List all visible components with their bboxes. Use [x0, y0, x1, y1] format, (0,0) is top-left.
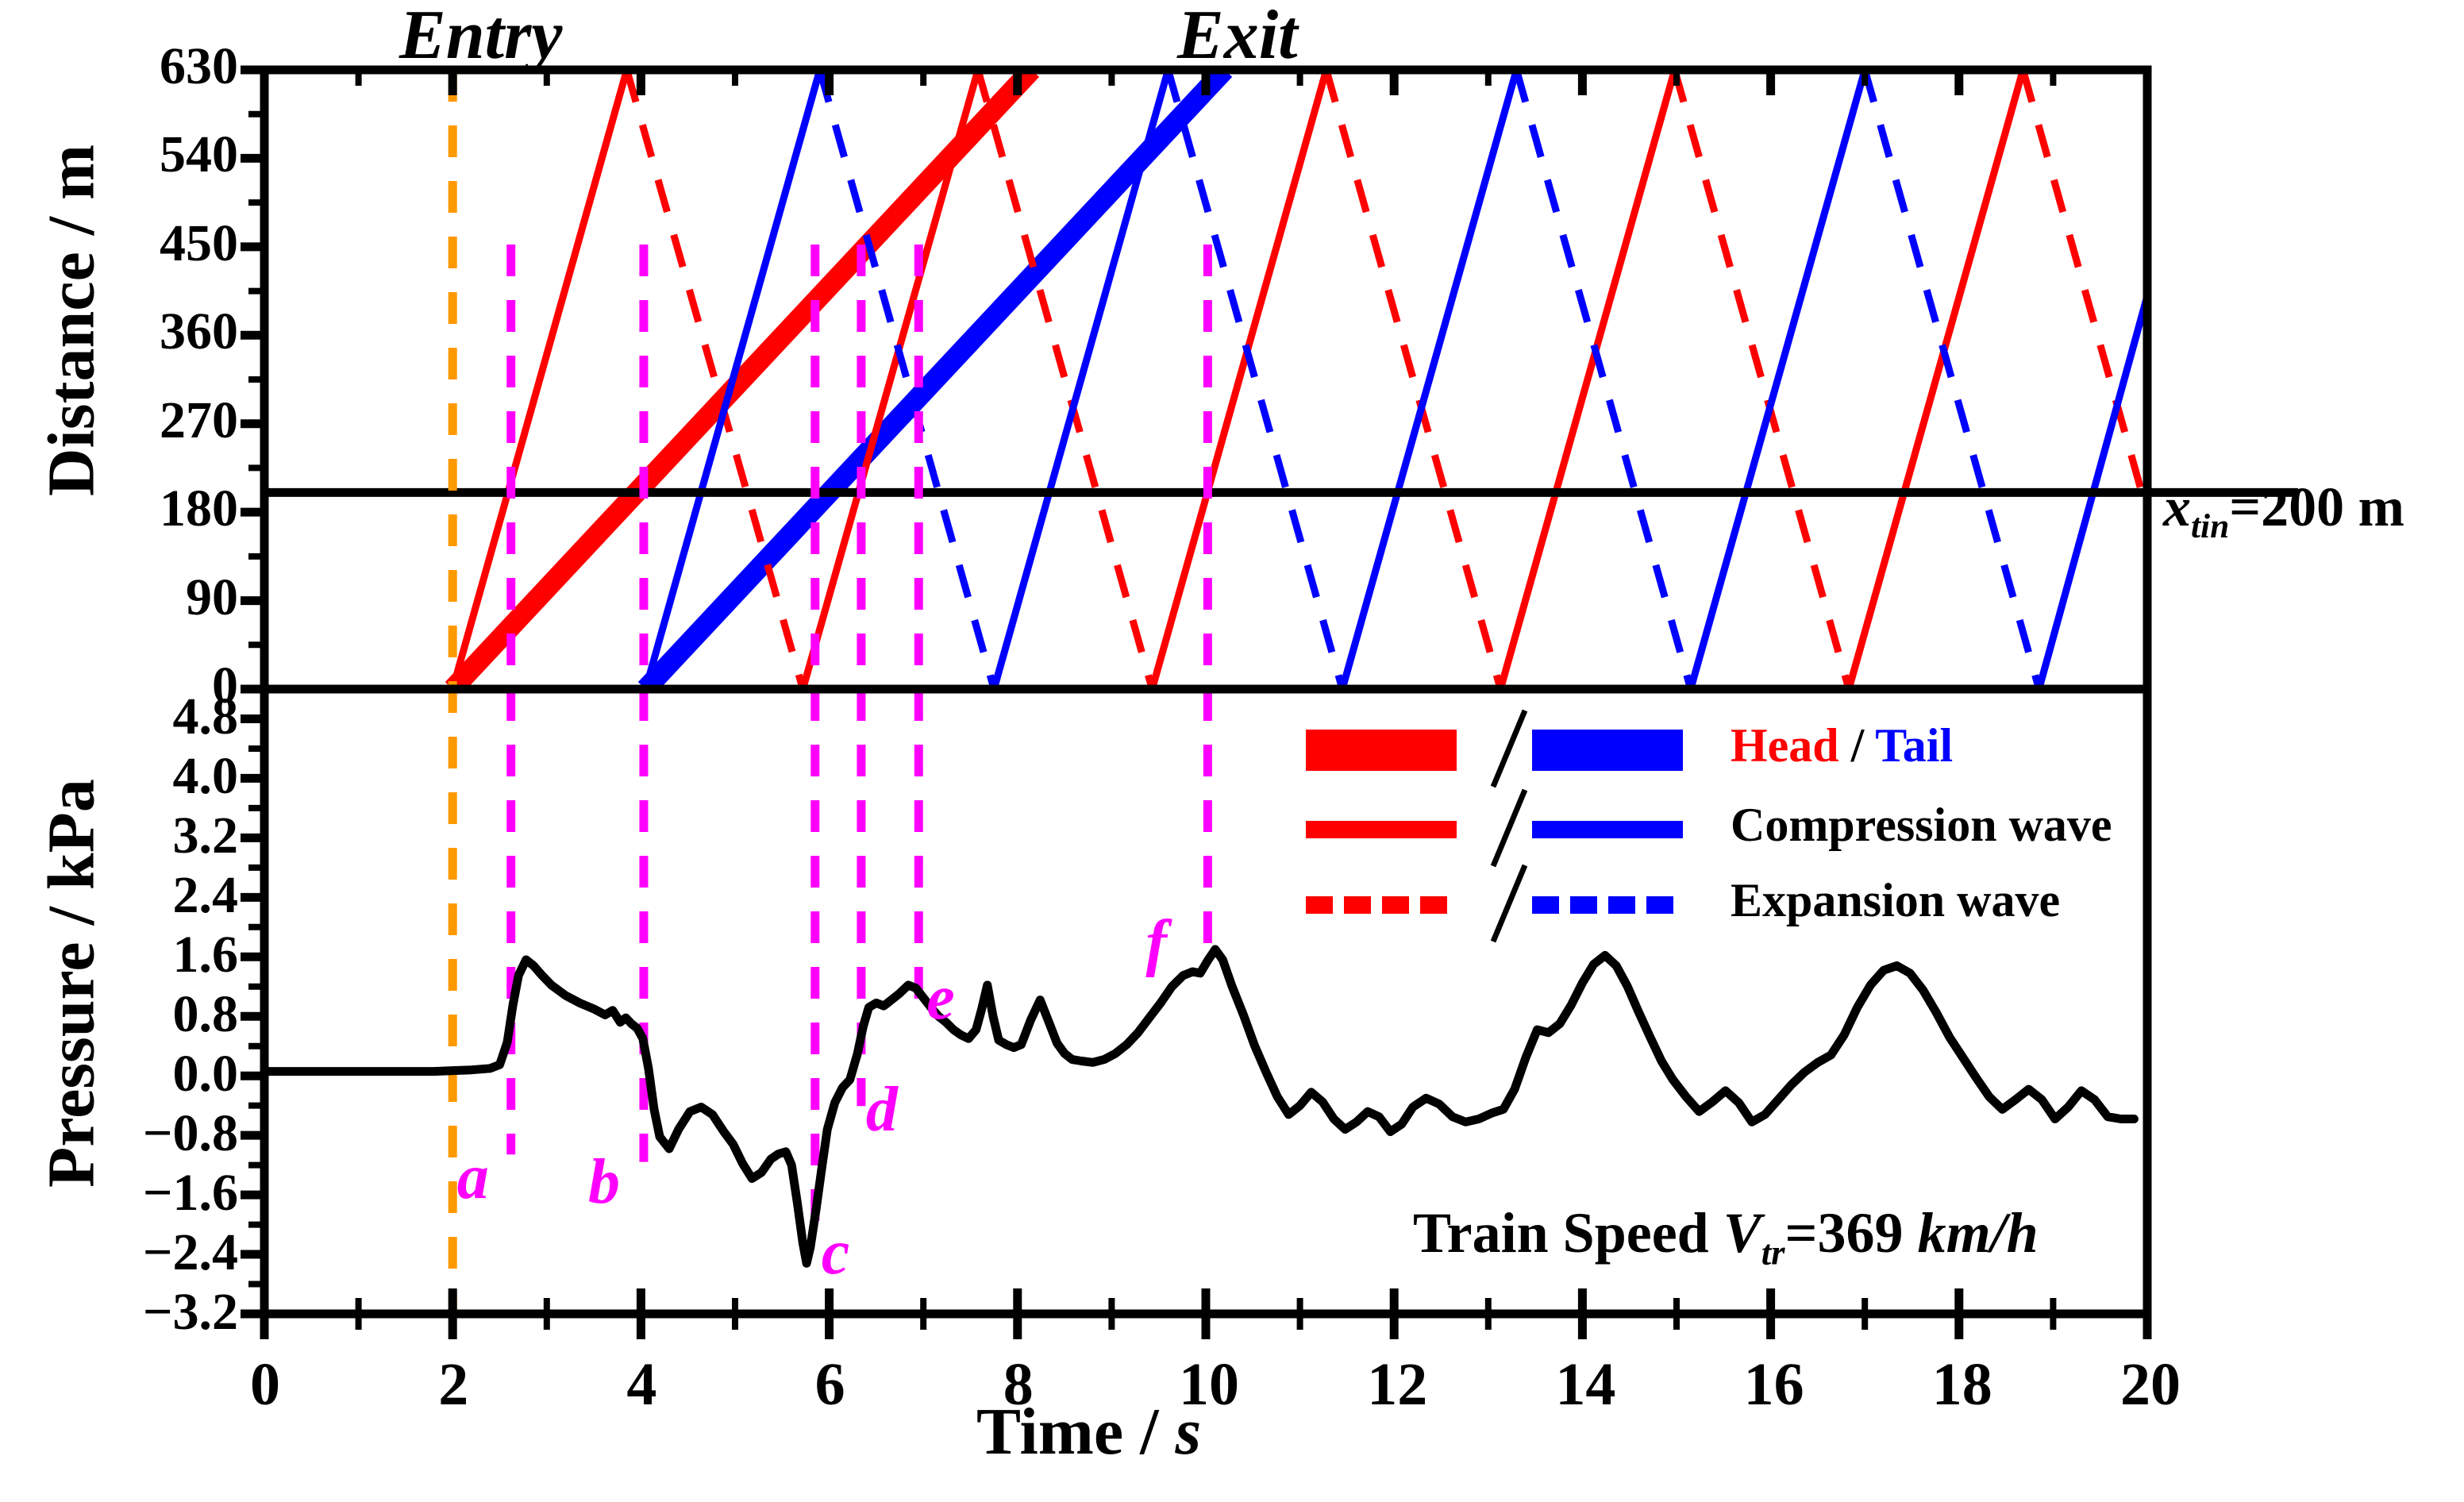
y-top-tick-label-450: 450	[71, 214, 238, 274]
x-tick-label-0: 0	[237, 1350, 293, 1419]
legend-label-0: Head / Tail	[1731, 718, 1953, 773]
legend-swatch-tail-2-2	[1608, 896, 1635, 914]
wave-line-16	[1342, 70, 1516, 689]
x-tick-label-6: 6	[803, 1350, 858, 1419]
x-tick-label-8: 8	[991, 1350, 1046, 1419]
train-speed-annotation: Train Speed Vtr=369 km/h	[1413, 1200, 2039, 1273]
y-bottom-tick-label-3: −0.8	[56, 1103, 238, 1164]
speed-subscript: tr	[1761, 1232, 1785, 1272]
xtin-subscript: tin	[2191, 507, 2229, 545]
wave-line-3	[627, 70, 803, 689]
legend-separator-0	[1493, 711, 1525, 787]
marker-label-c: c	[822, 1217, 850, 1289]
wave-line-15	[1168, 70, 1342, 689]
xtin-annotation: xtin=200 m	[2163, 476, 2404, 546]
legend-label-part-0-0: Head	[1731, 719, 1839, 772]
legend-swatch-tail-2-0	[1532, 896, 1559, 914]
wave-line-11	[2023, 70, 2147, 512]
y-bottom-tick-label-4: 0.0	[56, 1044, 238, 1104]
y-top-tick-label-90: 90	[71, 568, 238, 628]
speed-value: =369	[1785, 1201, 1918, 1265]
x-tick-label-14: 14	[1555, 1350, 1611, 1419]
y-top-tick-label-540: 540	[71, 125, 238, 185]
y-top-tick-label-180: 180	[71, 479, 238, 539]
legend-swatch-head-2-2	[1382, 896, 1409, 914]
legend-label-part-0-2: Tail	[1875, 719, 1953, 772]
xtin-symbol: x	[2163, 477, 2191, 538]
wave-pressure-figure	[0, 0, 2464, 1498]
x-tick-label-10: 10	[1179, 1350, 1234, 1419]
legend-swatch-head-2-0	[1306, 896, 1333, 914]
speed-symbol: V	[1723, 1201, 1761, 1265]
legend-label-part-0-1: /	[1839, 719, 1876, 772]
y-bottom-tick-label-1: −2.4	[56, 1223, 238, 1283]
y-bottom-tick-label-10: 4.8	[56, 687, 238, 747]
y-bottom-tick-label-0: −3.2	[56, 1282, 238, 1342]
x-tick-label-12: 12	[1367, 1350, 1423, 1419]
legend-swatch-head-0	[1306, 730, 1457, 771]
y-bottom-tick-label-9: 4.0	[56, 746, 238, 807]
xtin-value: =200 m	[2229, 477, 2404, 538]
y-bottom-tick-label-8: 3.2	[56, 806, 238, 866]
marker-label-d: d	[866, 1074, 898, 1146]
y-top-tick-label-630: 630	[71, 37, 238, 97]
legend-swatch-head-2-3	[1420, 896, 1447, 914]
legend-label-part-2-0: Expansion wave	[1731, 874, 2060, 926]
wave-line-19	[1865, 70, 2039, 689]
speed-prefix: Train Speed	[1413, 1201, 1723, 1265]
marker-label-f: f	[1145, 907, 1167, 980]
marker-label-b: b	[588, 1146, 620, 1219]
figure-canvas	[0, 0, 2464, 1498]
legend-swatch-head-1	[1306, 821, 1457, 838]
marker-label-e: e	[926, 962, 955, 1034]
wave-line-8	[1500, 70, 1674, 689]
legend-label-part-1-0: Compression wave	[1731, 799, 2112, 851]
exit-label: Exit	[1177, 0, 1298, 75]
legend-label-2: Expansion wave	[1731, 873, 2060, 928]
legend-swatch-tail-1	[1532, 821, 1683, 838]
wave-line-9	[1675, 70, 1849, 689]
legend-swatch-tail-0	[1532, 730, 1683, 771]
legend-label-1: Compression wave	[1731, 798, 2112, 853]
wave-line-18	[1691, 70, 1865, 689]
y-top-tick-label-270: 270	[71, 391, 238, 451]
wave-line-6	[1152, 70, 1326, 689]
wave-diagram-lines	[452, 70, 2147, 689]
x-tick-label-18: 18	[1932, 1350, 1988, 1419]
legend-swatch-tail-2-3	[1646, 896, 1673, 914]
wave-line-10	[1849, 70, 2023, 689]
wave-line-14	[994, 70, 1168, 689]
x-tick-label-2: 2	[425, 1350, 481, 1419]
entry-label: Entry	[399, 0, 562, 75]
speed-units: km/h	[1918, 1201, 2039, 1265]
legend-swatch-tail-2-1	[1570, 896, 1597, 914]
y-bottom-tick-label-6: 1.6	[56, 925, 238, 985]
x-tick-label-20: 20	[2120, 1350, 2176, 1419]
wave-line-4	[803, 70, 978, 689]
x-tick-label-16: 16	[1744, 1350, 1800, 1419]
legend-separator-2	[1493, 865, 1525, 942]
wave-line-7	[1326, 70, 1500, 689]
x-tick-label-4: 4	[614, 1350, 669, 1419]
wave-line-13	[820, 70, 994, 689]
y-bottom-tick-label-5: 0.8	[56, 984, 238, 1045]
legend-swatch-head-2-1	[1344, 896, 1371, 914]
y-top-tick-label-360: 360	[71, 302, 238, 362]
y-bottom-tick-label-7: 2.4	[56, 865, 238, 926]
legend-separator-1	[1493, 790, 1525, 866]
marker-label-a: a	[457, 1142, 489, 1214]
y-bottom-tick-label-2: −1.6	[56, 1163, 238, 1223]
wave-line-17	[1516, 70, 1690, 689]
